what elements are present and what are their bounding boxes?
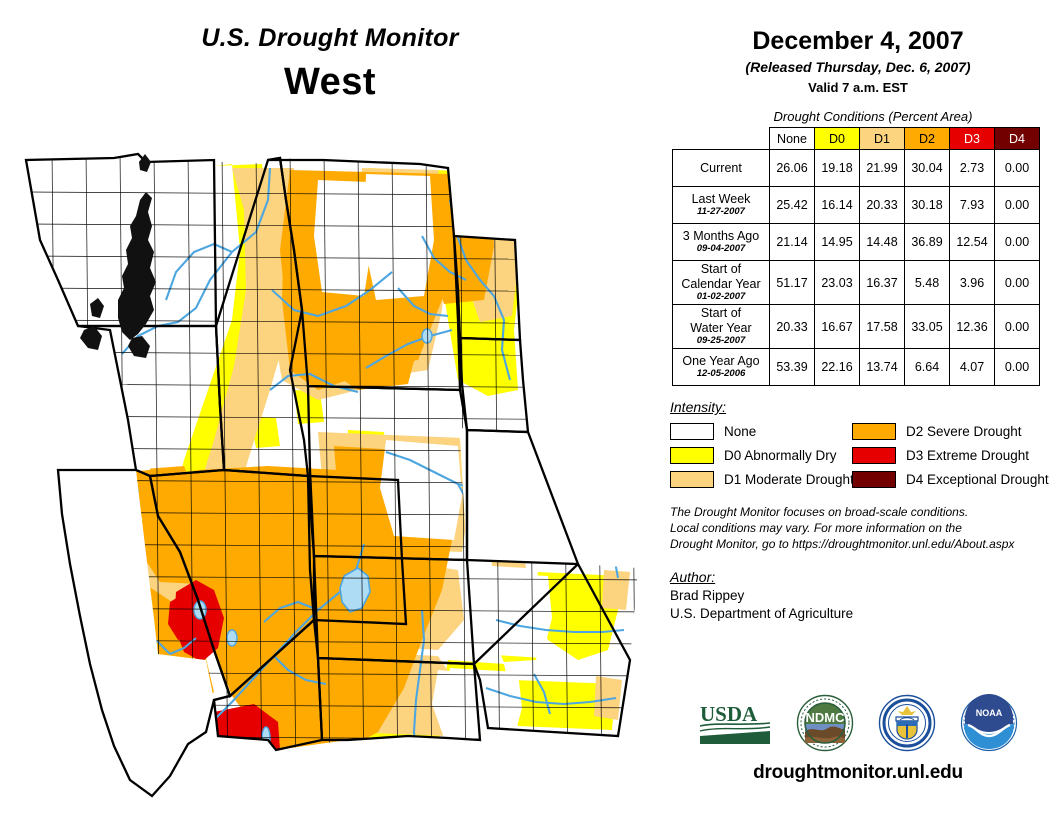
author-name: Brad Rippey (670, 587, 1056, 606)
table-cell-d2: 36.89 (905, 224, 950, 261)
table-cell-d1: 13.74 (860, 349, 905, 386)
table-row-label: Start ofCalendar Year01-02-2007 (673, 261, 770, 305)
legend-item-d0: D0 Abnormally Dry (670, 443, 848, 467)
table-row-date: 12-05-2006 (673, 369, 769, 380)
table-cell-d4: 0.00 (995, 224, 1040, 261)
table-cell-d2: 6.64 (905, 349, 950, 386)
table-row: Last Week11-27-200725.4216.1420.3330.187… (673, 187, 1040, 224)
table-cell-d2: 30.04 (905, 150, 950, 187)
disclaimer-line-2: Local conditions may vary. For more info… (670, 521, 1056, 537)
table-cell-none: 26.06 (770, 150, 815, 187)
table-caption: Drought Conditions (Percent Area) (660, 109, 1056, 124)
noaa-logo: NOAA (960, 694, 1018, 752)
table-cell-d0: 14.95 (815, 224, 860, 261)
legend-swatch-d2 (852, 423, 896, 440)
table-row-label: Last Week11-27-2007 (673, 187, 770, 224)
legend-label-d4: D4 Exceptional Drought (906, 472, 1049, 487)
table-body: Current26.0619.1821.9930.042.730.00Last … (673, 150, 1040, 386)
table-row-label: Current (673, 150, 770, 187)
table-cell-d3: 7.93 (950, 187, 995, 224)
table-row: Start ofWater Year09-25-200720.3316.6717… (673, 305, 1040, 349)
table-cell-d1: 14.48 (860, 224, 905, 261)
table-header-row: NoneD0D1D2D3D4 (673, 128, 1040, 150)
disclaimer-line-1: The Drought Monitor focuses on broad-sca… (670, 505, 1056, 521)
legend-swatch-none (670, 423, 714, 440)
table-cell-d1: 17.58 (860, 305, 905, 349)
table-row-date: 01-02-2007 (673, 292, 769, 303)
intensity-legend: NoneD2 Severe DroughtD0 Abnormally DryD3… (670, 419, 1056, 491)
table-cell-d0: 16.67 (815, 305, 860, 349)
valid-time: Valid 7 a.m. EST (660, 80, 1056, 95)
author-heading: Author: (670, 569, 1056, 585)
svg-text:USDA: USDA (700, 702, 758, 726)
released-date: (Released Thursday, Dec. 6, 2007) (660, 59, 1056, 75)
region-title: West (0, 63, 660, 101)
table-cell-d0: 23.03 (815, 261, 860, 305)
legend-item-d1: D1 Moderate Drought (670, 467, 848, 491)
legend-item-d3: D3 Extreme Drought (852, 443, 1030, 467)
svg-text:NDMC: NDMC (806, 710, 846, 725)
table-cell-d3: 3.96 (950, 261, 995, 305)
author-affiliation: U.S. Department of Agriculture (670, 605, 1056, 624)
legend-label-d0: D0 Abnormally Dry (724, 448, 837, 463)
table-col-header-d3: D3 (950, 128, 995, 150)
title-block: U.S. Drought Monitor West (0, 26, 660, 101)
legend-swatch-d0 (670, 447, 714, 464)
table-col-header-d0: D0 (815, 128, 860, 150)
usda-logo: USDA (698, 700, 772, 746)
table-cell-d4: 0.00 (995, 349, 1040, 386)
table-cell-d0: 16.14 (815, 187, 860, 224)
ndmc-logo: NDMC (796, 694, 854, 752)
map-svg (18, 140, 658, 800)
legend-item-none: None (670, 419, 848, 443)
table-cell-none: 21.14 (770, 224, 815, 261)
page-title: U.S. Drought Monitor (0, 26, 660, 51)
date-block: December 4, 2007 (Released Thursday, Dec… (660, 0, 1056, 95)
table-row: Start ofCalendar Year01-02-200751.1723.0… (673, 261, 1040, 305)
commerce-seal-logo (878, 694, 936, 752)
table-cell-d0: 22.16 (815, 349, 860, 386)
drought-conditions-table: NoneD0D1D2D3D4 Current26.0619.1821.9930.… (672, 127, 1040, 386)
table-cell-none: 20.33 (770, 305, 815, 349)
table-col-header-d4: D4 (995, 128, 1040, 150)
legend-heading: Intensity: (670, 399, 1056, 415)
issue-date: December 4, 2007 (660, 28, 1056, 54)
table-col-header-d2: D2 (905, 128, 950, 150)
table-cell-d3: 2.73 (950, 150, 995, 187)
legend-label-none: None (724, 424, 756, 439)
table-cell-d2: 30.18 (905, 187, 950, 224)
table-row: 3 Months Ago09-04-200721.1414.9514.4836.… (673, 224, 1040, 261)
table-cell-d1: 21.99 (860, 150, 905, 187)
legend-swatch-d3 (852, 447, 896, 464)
logo-row: USDA NDMC (660, 692, 1056, 754)
legend-label-d1: D1 Moderate Drought (724, 472, 854, 487)
table-row-date: 11-27-2007 (673, 207, 769, 218)
table-cell-d4: 0.00 (995, 261, 1040, 305)
table-row-date: 09-04-2007 (673, 244, 769, 255)
info-panel: December 4, 2007 (Released Thursday, Dec… (660, 0, 1056, 816)
table-cell-d2: 33.05 (905, 305, 950, 349)
table-row: Current26.0619.1821.9930.042.730.00 (673, 150, 1040, 187)
legend-swatch-d4 (852, 471, 896, 488)
table-cell-d3: 12.54 (950, 224, 995, 261)
table-cell-none: 25.42 (770, 187, 815, 224)
svg-text:NOAA: NOAA (976, 708, 1003, 718)
disclaimer-line-3: Drought Monitor, go to https://droughtmo… (670, 537, 1056, 553)
map-panel: U.S. Drought Monitor West (0, 0, 660, 816)
table-cell-d3: 12.36 (950, 305, 995, 349)
table-cell-d0: 19.18 (815, 150, 860, 187)
table-cell-d4: 0.00 (995, 305, 1040, 349)
table-cell-none: 51.17 (770, 261, 815, 305)
legend-swatch-d1 (670, 471, 714, 488)
table-col-header-d1: D1 (860, 128, 905, 150)
table-row-label: One Year Ago12-05-2006 (673, 349, 770, 386)
table-row-label: 3 Months Ago09-04-2007 (673, 224, 770, 261)
drought-map[interactable] (18, 140, 658, 800)
table-cell-d3: 4.07 (950, 349, 995, 386)
legend-item-d2: D2 Severe Drought (852, 419, 1030, 443)
legend-item-d4: D4 Exceptional Drought (852, 467, 1030, 491)
table-cell-d2: 5.48 (905, 261, 950, 305)
table-cell-d1: 16.37 (860, 261, 905, 305)
table-row: One Year Ago12-05-200653.3922.1613.746.6… (673, 349, 1040, 386)
disclaimer: The Drought Monitor focuses on broad-sca… (670, 505, 1056, 552)
table-cell-d4: 0.00 (995, 187, 1040, 224)
legend-label-d2: D2 Severe Drought (906, 424, 1022, 439)
table-cell-d1: 20.33 (860, 187, 905, 224)
table-cell-none: 53.39 (770, 349, 815, 386)
table-corner-cell (673, 128, 770, 150)
legend-label-d3: D3 Extreme Drought (906, 448, 1029, 463)
table-row-date: 09-25-2007 (673, 336, 769, 347)
table-row-label: Start ofWater Year09-25-2007 (673, 305, 770, 349)
table-col-header-none: None (770, 128, 815, 150)
site-url[interactable]: droughtmonitor.unl.edu (660, 762, 1056, 784)
table-cell-d4: 0.00 (995, 150, 1040, 187)
